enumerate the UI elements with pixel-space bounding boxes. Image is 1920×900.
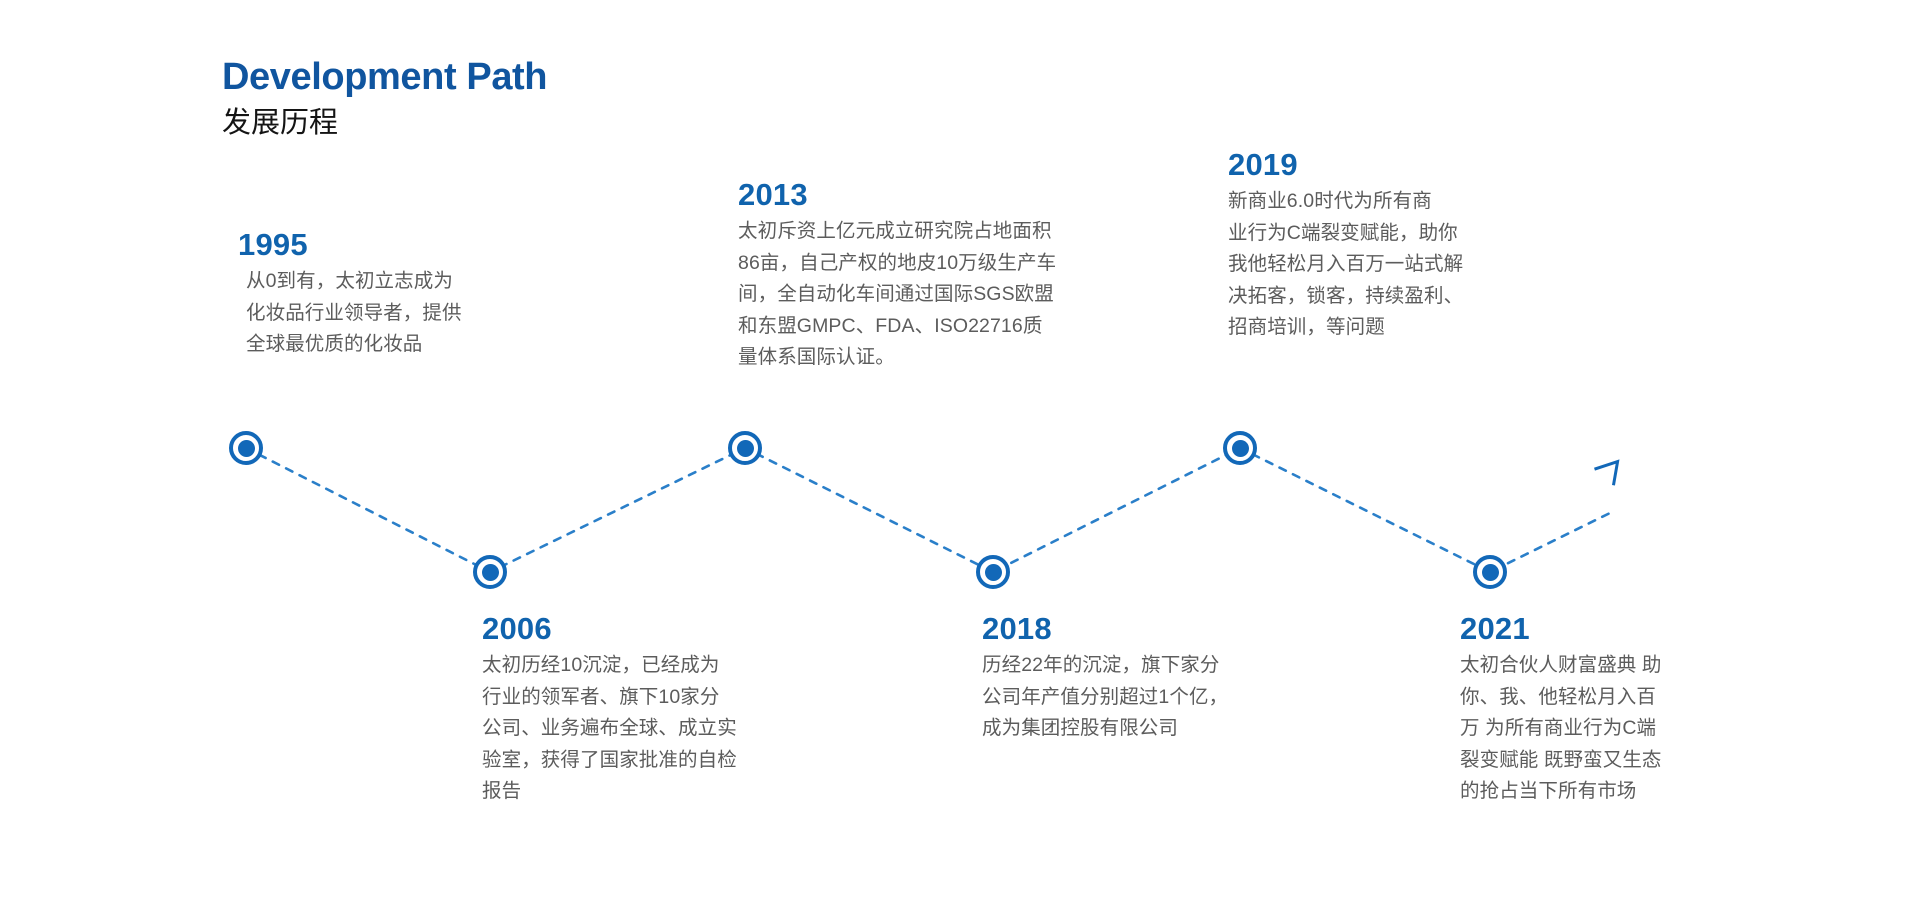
timeline-event-2018[interactable]: 2018 历经22年的沉淀，旗下家分 公司年产值分别超过1个亿， 成为集团控股有… (982, 612, 1312, 745)
timeline-event-2021[interactable]: 2021 太初合伙人财富盛典 助 你、我、他轻松月入百 万 为所有商业行为C端 … (1460, 612, 1760, 808)
event-description: 太初合伙人财富盛典 助 你、我、他轻松月入百 万 为所有商业行为C端 裂变赋能 … (1460, 650, 1760, 808)
event-year-label: 2018 (982, 612, 1312, 646)
page-title: Development Path (222, 58, 547, 98)
event-description: 历经22年的沉淀，旗下家分 公司年产值分别超过1个亿， 成为集团控股有限公司 (982, 650, 1312, 745)
event-year-label: 2021 (1460, 612, 1760, 646)
event-year-label: 2019 (1228, 148, 1548, 182)
event-description: 从0到有，太初立志成为 化妆品行业领导者，提供 全球最优质的化妆品 (238, 266, 548, 361)
timeline-infographic: Development Path 发展历程 1995 从0到有，太初立志成为 化… (0, 0, 1920, 900)
timeline-node-2013[interactable] (728, 431, 762, 465)
timeline-node-1995[interactable] (229, 431, 263, 465)
page-subtitle: 发展历程 (222, 108, 547, 140)
timeline-node-2018[interactable] (976, 555, 1010, 589)
timeline-zigzag-path (246, 448, 1612, 572)
timeline-event-2006[interactable]: 2006 太初历经10沉淀，已经成为 行业的领军者、旗下10家分 公司、业务遍布… (482, 612, 842, 808)
timeline-node-2021[interactable] (1473, 555, 1507, 589)
event-description: 太初斥资上亿元成立研究院占地面积 86亩，自己产权的地皮10万级生产车 间，全自… (738, 216, 1178, 374)
timeline-node-2006[interactable] (473, 555, 507, 589)
timeline-event-2013[interactable]: 2013 太初斥资上亿元成立研究院占地面积 86亩，自己产权的地皮10万级生产车… (738, 178, 1178, 374)
event-year-label: 1995 (238, 228, 548, 262)
timeline-event-2019[interactable]: 2019 新商业6.0时代为所有商 业行为C端裂变赋能，助你 我他轻松月入百万一… (1228, 148, 1548, 344)
arrow-end-icon (1596, 462, 1619, 485)
header: Development Path 发展历程 (222, 58, 547, 140)
timeline-node-2019[interactable] (1223, 431, 1257, 465)
event-description: 太初历经10沉淀，已经成为 行业的领军者、旗下10家分 公司、业务遍布全球、成立… (482, 650, 842, 808)
event-year-label: 2013 (738, 178, 1178, 212)
event-description: 新商业6.0时代为所有商 业行为C端裂变赋能，助你 我他轻松月入百万一站式解 决… (1228, 186, 1548, 344)
event-year-label: 2006 (482, 612, 842, 646)
timeline-event-1995[interactable]: 1995 从0到有，太初立志成为 化妆品行业领导者，提供 全球最优质的化妆品 (238, 228, 548, 361)
